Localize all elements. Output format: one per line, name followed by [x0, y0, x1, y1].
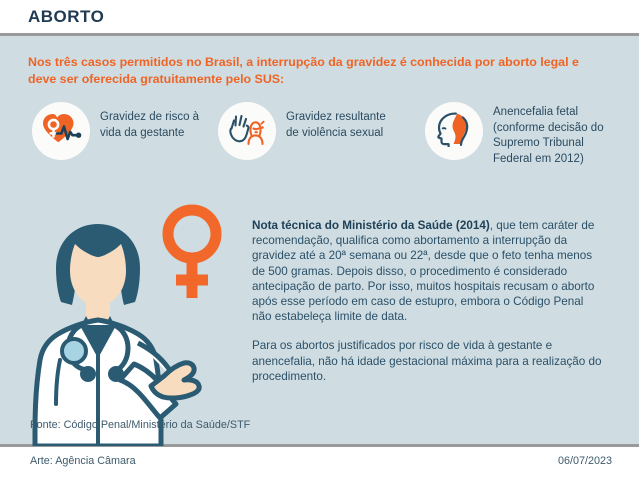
footer-credit: Arte: Agência Câmara: [30, 455, 136, 467]
footer-bar: Arte: Agência Câmara 06/07/2023: [0, 447, 639, 478]
venus-symbol-icon: [168, 210, 216, 298]
case-item-fetal-anencephaly: Anencefalia fetal (conforme decisão do S…: [425, 102, 625, 167]
case-icon-bubble: [218, 102, 276, 160]
body-copy: Nota técnica do Ministério da Saúde (201…: [252, 218, 604, 398]
female-doctor-illustration: [10, 194, 250, 446]
case-icon-bubble: [425, 102, 483, 160]
title-bar: ABORTO: [0, 0, 639, 33]
paragraph-lead: Nota técnica do Ministério da Saúde (201…: [252, 219, 490, 232]
infographic-panel: Nos três casos permitidos no Brasil, a i…: [0, 33, 639, 447]
intro-headline: Nos três casos permitidos no Brasil, a i…: [28, 54, 600, 88]
case-label: Gravidez de risco à vida da gestante: [100, 102, 212, 141]
heart-pulse-female-icon: [40, 112, 82, 151]
case-item-risk-to-life: Gravidez de risco à vida da gestante: [32, 102, 212, 160]
case-label: Anencefalia fetal (conforme decisão do S…: [493, 102, 625, 167]
case-item-sexual-violence: Gravidez resultante de violência sexual: [218, 102, 398, 160]
paragraph-nota-tecnica: Nota técnica do Ministério da Saúde (201…: [252, 218, 604, 324]
case-label: Gravidez resultante de violência sexual: [286, 102, 398, 141]
hands-violence-icon: [227, 111, 267, 152]
paragraph-rest: , que tem caráter de recomendação, quali…: [252, 219, 594, 323]
page-title: ABORTO: [28, 7, 104, 27]
source-line: Fonte: Código Penal/Ministério da Saúde/…: [30, 419, 250, 431]
case-icon-bubble: [32, 102, 90, 160]
paragraph-sem-limite: Para os abortos justificados por risco d…: [252, 338, 604, 384]
footer-date: 06/07/2023: [558, 455, 612, 467]
head-profile-brain-icon: [432, 111, 476, 152]
